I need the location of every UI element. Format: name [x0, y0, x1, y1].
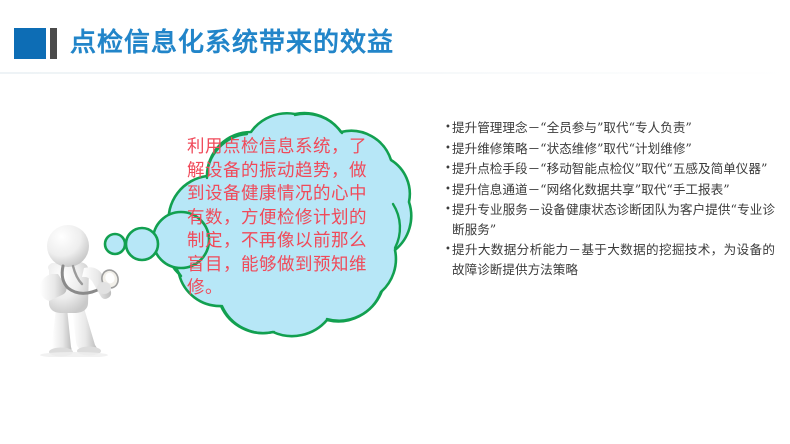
slide-header: 点检信息化系统带来的效益 [0, 27, 790, 67]
list-item: 提升点检手段－“移动智能点检仪”取代“五感及简单仪器” [445, 159, 775, 179]
list-item: 提升信息通道－“网络化数据共享”取代“手工报表” [445, 180, 775, 200]
page-title: 点检信息化系统带来的效益 [70, 23, 394, 63]
list-item: 提升大数据分析能力－基于大数据的挖掘技术，为设备的故障诊断提供方法策略 [445, 240, 775, 279]
list-item: 提升管理理念－“全员参与”取代“专人负责” [445, 118, 775, 138]
benefits-list: 提升管理理念－“全员参与”取代“专人负责” 提升维修策略－“状态维修”取代“计划… [445, 118, 775, 280]
title-accent-square [14, 28, 46, 59]
thought-bubble: 利用点检信息系统，了解设备的振动趋势，做到设备健康情况的心中有数，方便检修计划的… [95, 92, 440, 357]
list-item: 提升维修策略－“状态维修”取代“计划维修” [445, 139, 775, 159]
slide-canvas: 点检信息化系统带来的效益 利用点检信息系 [0, 0, 790, 444]
title-accent-bar [50, 28, 57, 59]
person-with-stethoscope-icon [18, 222, 130, 357]
title-divider [0, 72, 790, 74]
thought-bubble-text: 利用点检信息系统，了解设备的振动趋势，做到设备健康情况的心中有数，方便检修计划的… [187, 136, 373, 301]
list-item: 提升专业服务－设备健康状态诊断团队为客户提供“专业诊断服务” [445, 200, 775, 239]
